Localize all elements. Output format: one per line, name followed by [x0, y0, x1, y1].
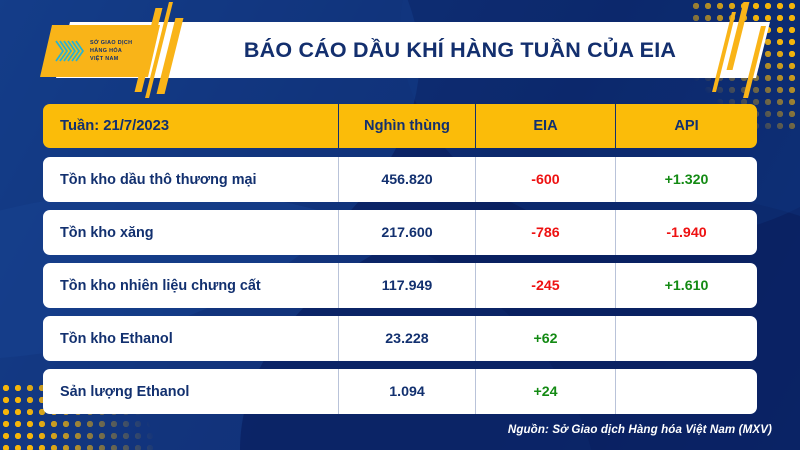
row-api-value	[615, 369, 757, 414]
row-eia-value: -786	[475, 210, 615, 255]
row-eia-value: -245	[475, 263, 615, 308]
row-label: Tồn kho dầu thô thương mại	[43, 157, 338, 202]
row-label: Tồn kho nhiên liệu chưng cất	[43, 263, 338, 308]
row-unit-value: 1.094	[338, 369, 475, 414]
table-row: Tồn kho xăng 217.600 -786 -1.940	[43, 210, 757, 255]
logo-line-1: SỞ GIAO DỊCH	[90, 39, 132, 47]
row-unit-value: 456.820	[338, 157, 475, 202]
row-label: Sản lượng Ethanol	[43, 369, 338, 414]
row-unit-value: 217.600	[338, 210, 475, 255]
table-row: Tồn kho nhiên liệu chưng cất 117.949 -24…	[43, 263, 757, 308]
column-header-api: API	[615, 104, 757, 148]
table-row: Tồn kho Ethanol 23.228 +62	[43, 316, 757, 361]
row-unit-value: 117.949	[338, 263, 475, 308]
table-header-row: Tuần: 21/7/2023 Nghìn thùng EIA API	[43, 104, 757, 148]
row-eia-value: +24	[475, 369, 615, 414]
column-header-week: Tuần: 21/7/2023	[43, 104, 338, 148]
mxv-chevron-logo-icon	[54, 37, 84, 65]
column-header-unit: Nghìn thùng	[338, 104, 475, 148]
row-api-value: -1.940	[615, 210, 757, 255]
row-eia-value: +62	[475, 316, 615, 361]
eia-report-table: Tuần: 21/7/2023 Nghìn thùng EIA API Tồn …	[43, 104, 757, 422]
mxv-logo-text: SỞ GIAO DỊCH HÀNG HÓA VIỆT NAM	[90, 39, 132, 63]
mxv-logo: SỞ GIAO DỊCH HÀNG HÓA VIỆT NAM	[40, 25, 160, 77]
row-label: Tồn kho Ethanol	[43, 316, 338, 361]
row-api-value: +1.320	[615, 157, 757, 202]
page-title: BÁO CÁO DẦU KHÍ HÀNG TUẦN CỦA EIA	[190, 28, 730, 72]
row-label: Tồn kho xăng	[43, 210, 338, 255]
table-row: Tồn kho dầu thô thương mại 456.820 -600 …	[43, 157, 757, 202]
table-row: Sản lượng Ethanol 1.094 +24	[43, 369, 757, 414]
row-eia-value: -600	[475, 157, 615, 202]
logo-line-3: VIỆT NAM	[90, 55, 132, 63]
row-api-value	[615, 316, 757, 361]
column-header-eia: EIA	[475, 104, 615, 148]
logo-line-2: HÀNG HÓA	[90, 47, 132, 55]
source-attribution: Nguồn: Sở Giao dịch Hàng hóa Việt Nam (M…	[508, 423, 772, 436]
row-api-value: +1.610	[615, 263, 757, 308]
infographic-canvas: SỞ GIAO DỊCH HÀNG HÓA VIỆT NAM BÁO CÁO D…	[0, 0, 800, 450]
row-unit-value: 23.228	[338, 316, 475, 361]
